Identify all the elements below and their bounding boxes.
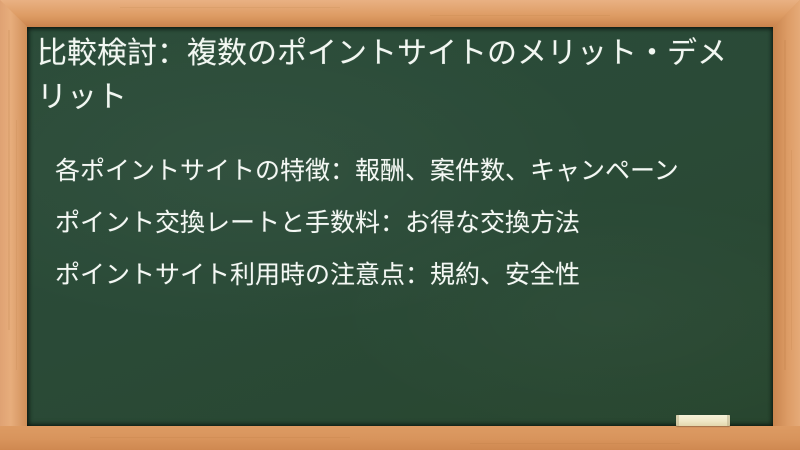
wood-grain-line [120,7,340,8]
list-item: ポイント交換レートと手数料：お得な交換方法 [55,201,761,244]
chalk-stick-end-right [727,415,730,426]
frame-edge-left [0,0,27,450]
chalkboard: 比較検討：複数のポイントサイトのメリット・デメリット 各ポイントサイトの特徴：報… [27,27,773,426]
list-item: ポイントサイト利用時の注意点：規約、安全性 [55,253,761,296]
frame-edge-right [773,0,800,450]
wood-grain-line [470,443,680,444]
chalkboard-content: 比較検討：複数のポイントサイトのメリット・デメリット 各ポイントサイトの特徴：報… [27,27,773,426]
wood-grain-line [8,30,10,330]
wood-grain-line [430,15,610,16]
wood-grain-line [784,40,786,370]
slide-bullet-list: 各ポイントサイトの特徴：報酬、案件数、キャンペーン ポイント交換レートと手数料：… [55,149,761,296]
chalk-stick-end-left [676,415,679,426]
wood-grain-line [90,437,350,438]
frame-edge-top [0,0,800,27]
slide-title: 比較検討：複数のポイントサイトのメリット・デメリット [37,32,737,120]
wood-grain-line [791,150,792,350]
list-item: 各ポイントサイトの特徴：報酬、案件数、キャンペーン [55,149,761,192]
wood-grain-line [16,120,17,370]
slide-screenshot: 比較検討：複数のポイントサイトのメリット・デメリット 各ポイントサイトの特徴：報… [0,0,800,450]
chalk-stick-icon [676,415,730,426]
frame-ledge-bottom [0,426,800,450]
